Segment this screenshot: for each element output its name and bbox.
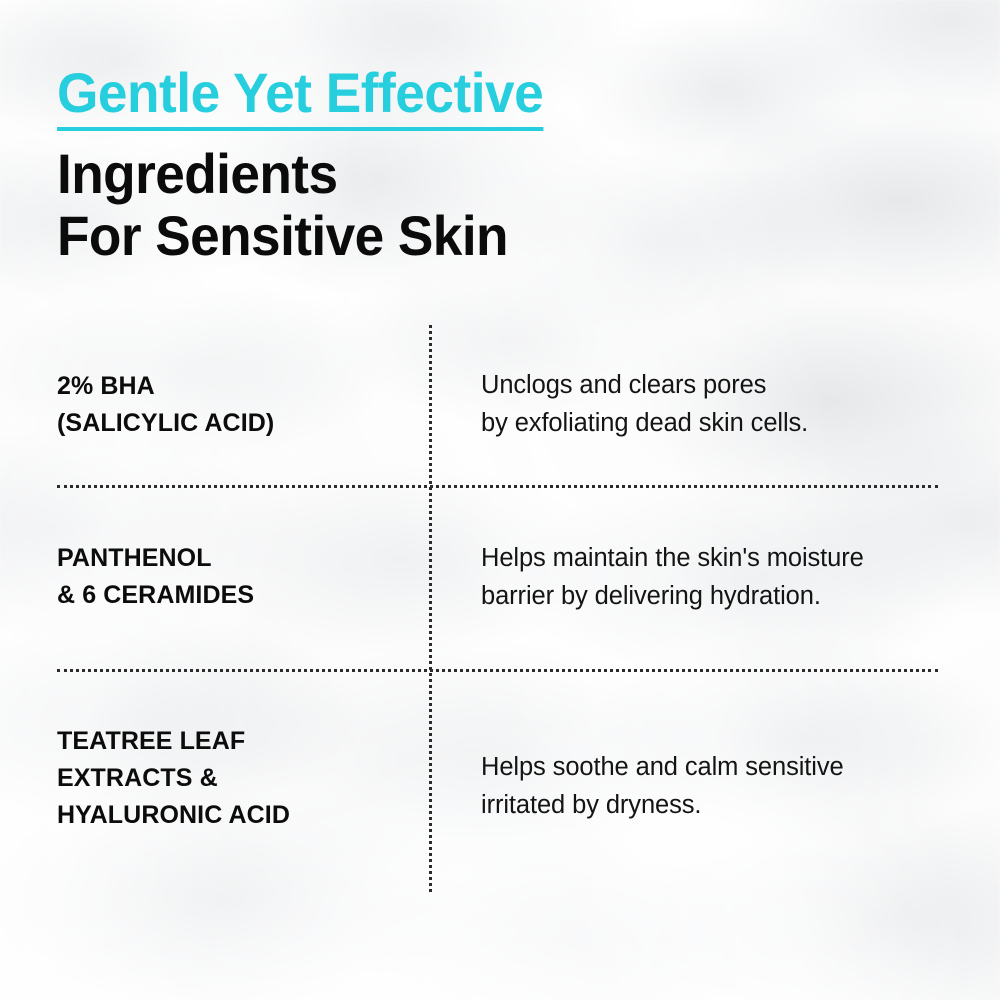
ingredient-description-1-line-2: by exfoliating dead skin cells. [481, 404, 938, 442]
ingredient-name-3-line-1: TEATREE LEAF [57, 723, 399, 760]
ingredient-description-2-line-2: barrier by delivering hydration. [481, 577, 938, 615]
ingredient-name-3-line-3: HYALURONIC ACID [57, 797, 399, 834]
ingredient-name-1-line-1: 2% BHA [57, 368, 399, 405]
ingredient-row: PANTHENOL & 6 CERAMIDES Helps maintain t… [57, 485, 938, 669]
ingredient-name-1-line-2: (SALICYLIC ACID) [57, 405, 399, 442]
ingredient-description-1: Unclogs and clears pores by exfoliating … [429, 366, 938, 442]
ingredient-description-3-line-1: Helps soothe and calm sensitive [481, 748, 938, 786]
ingredient-description-3-line-2: irritated by dryness. [481, 786, 938, 824]
ingredient-description-1-line-1: Unclogs and clears pores [481, 366, 938, 404]
page-title: Gentle Yet Effective Ingredients For Sen… [57, 62, 937, 267]
ingredient-name-2-line-2: & 6 CERAMIDES [57, 577, 399, 614]
poster-content: Gentle Yet Effective Ingredients For Sen… [0, 0, 1000, 1000]
ingredient-poster: Gentle Yet Effective Ingredients For Sen… [0, 0, 1000, 1000]
ingredient-row: 2% BHA (SALICYLIC ACID) Unclogs and clea… [57, 325, 938, 485]
ingredient-name-2: PANTHENOL & 6 CERAMIDES [57, 540, 429, 614]
ingredient-row: TEATREE LEAF EXTRACTS & HYALURONIC ACID … [57, 669, 938, 892]
ingredient-grid: 2% BHA (SALICYLIC ACID) Unclogs and clea… [57, 325, 938, 892]
ingredient-name-3-line-2: EXTRACTS & [57, 760, 399, 797]
headline-main: Ingredients For Sensitive Skin [57, 143, 893, 267]
ingredient-description-3: Helps soothe and calm sensitive irritate… [429, 748, 938, 824]
ingredient-name-2-line-1: PANTHENOL [57, 540, 399, 577]
ingredient-description-2: Helps maintain the skin's moisture barri… [429, 539, 938, 615]
headline-main-line-1: Ingredients [57, 143, 893, 205]
ingredient-description-2-line-1: Helps maintain the skin's moisture [481, 539, 938, 577]
ingredient-name-3: TEATREE LEAF EXTRACTS & HYALURONIC ACID [57, 723, 429, 834]
ingredient-name-1: 2% BHA (SALICYLIC ACID) [57, 368, 429, 442]
headline-main-line-2: For Sensitive Skin [57, 205, 893, 267]
headline-accent-underlined: Gentle Yet Effective [57, 62, 543, 131]
